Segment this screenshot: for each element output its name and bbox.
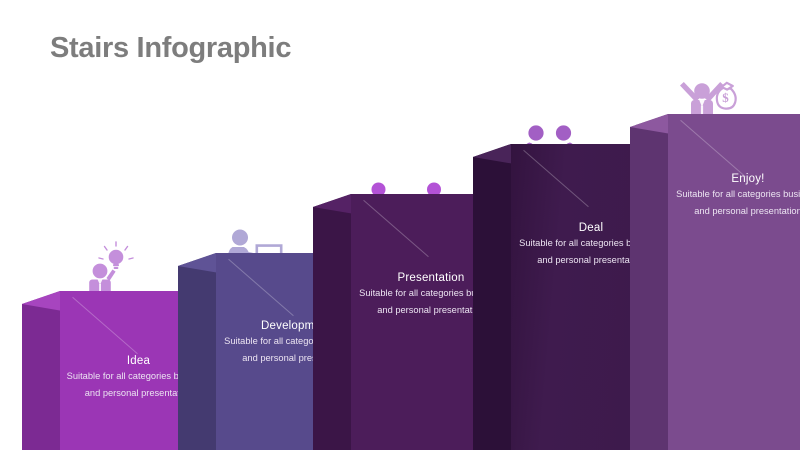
svg-text:$: $ <box>722 90 729 105</box>
gloss-highlight <box>222 257 284 319</box>
step-5-side-face <box>630 114 668 450</box>
step-3-side-face <box>313 194 351 450</box>
step-description: Suitable for all categories business and… <box>668 186 800 220</box>
step-5-front-face[interactable]: Enjoy! Suitable for all categories busin… <box>668 114 800 450</box>
gloss-highlight <box>357 198 419 260</box>
page-title: Stairs Infographic <box>50 32 291 65</box>
gloss-highlight <box>517 148 579 210</box>
infographic-canvas: Stairs Infographic <box>0 0 800 450</box>
gloss-highlight <box>674 118 736 180</box>
step-title: Idea <box>127 356 150 368</box>
step-4-side-face <box>473 144 511 450</box>
step-title: Enjoy! <box>731 174 764 186</box>
step-2-side-face <box>178 253 216 450</box>
gloss-highlight <box>66 295 128 357</box>
step-title: Deal <box>579 223 603 235</box>
step-title: Presentation <box>398 273 465 285</box>
step-1-side-face <box>22 291 60 450</box>
